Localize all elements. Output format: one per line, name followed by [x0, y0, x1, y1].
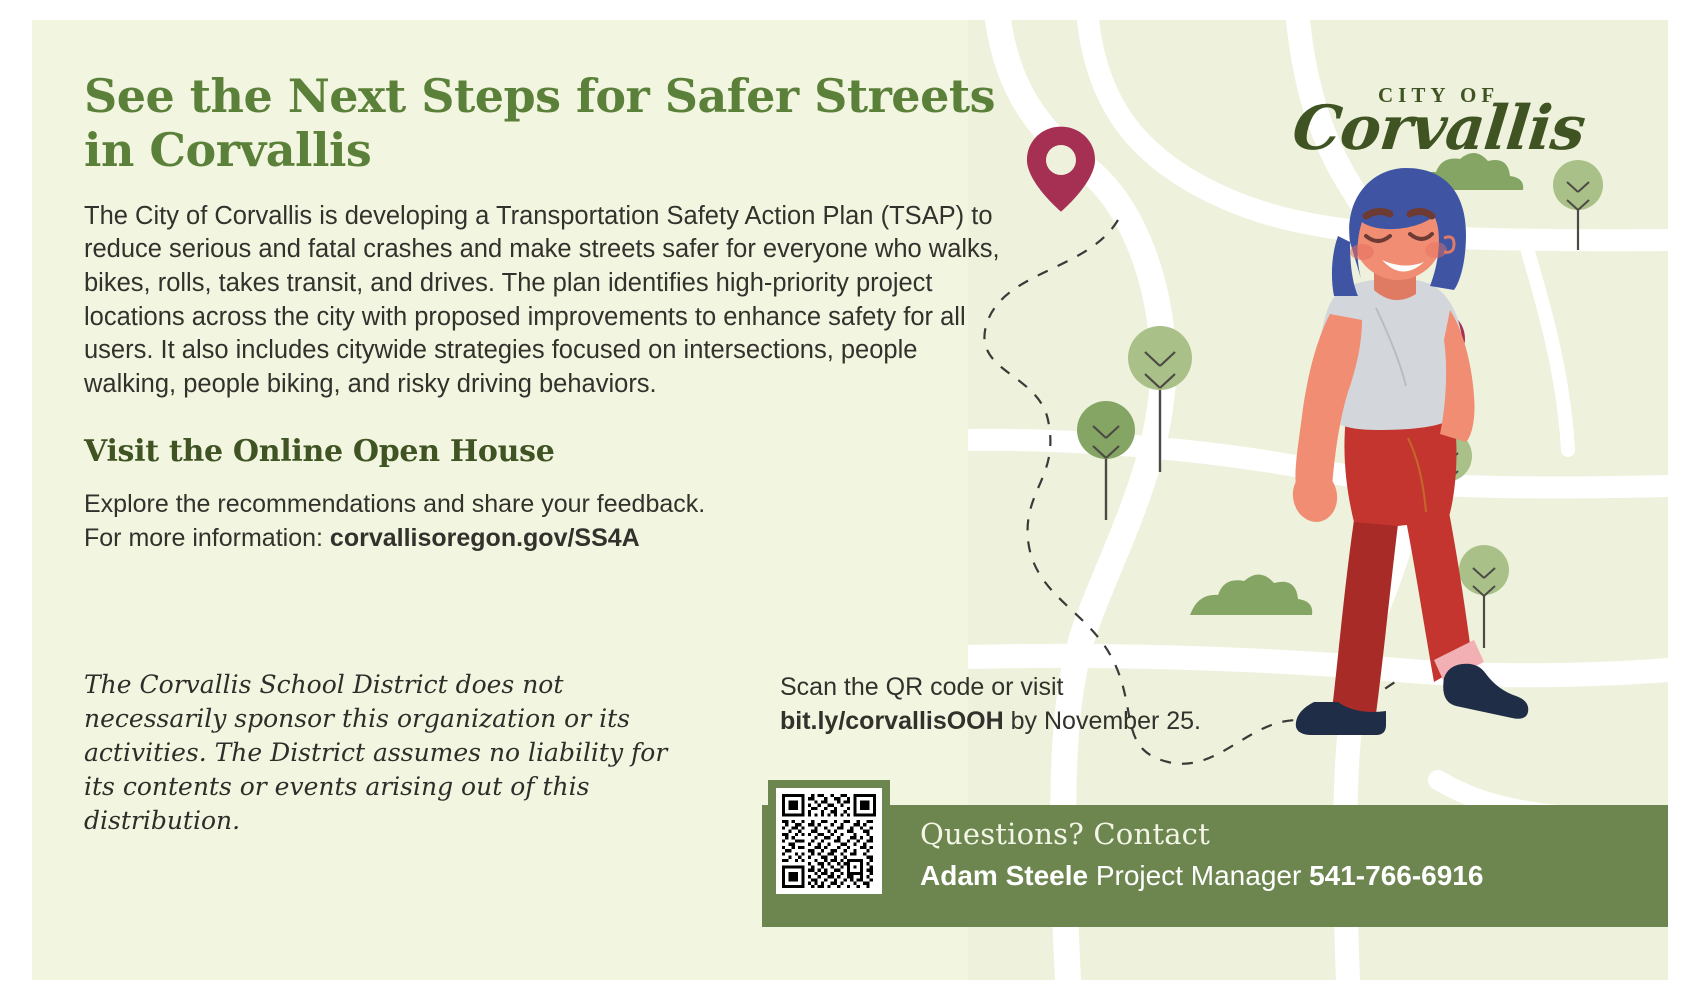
page-title: See the Next Steps for Safer Streets in … [84, 70, 1044, 178]
qr-code-block[interactable] [768, 780, 890, 902]
flyer-canvas: CITY OF Corvallis See the Next Steps for… [32, 20, 1668, 980]
bitly-link[interactable]: bit.ly/corvallisOOH [780, 707, 1004, 735]
school-district-disclaimer: The Corvallis School District does not n… [84, 668, 704, 838]
intro-paragraph: The City of Corvallis is developing a Tr… [84, 200, 1014, 402]
main-content: See the Next Steps for Safer Streets in … [84, 70, 1044, 556]
contact-role: Project Manager [1088, 860, 1309, 891]
contact-person-line: Adam Steele Project Manager 541-766-6916 [920, 860, 1660, 892]
qr-code-image[interactable] [776, 788, 882, 894]
scan-instructions: Scan the QR code or visit bit.ly/corvall… [780, 670, 1480, 738]
scan-line-1: Scan the QR code or visit [780, 673, 1063, 701]
contact-name: Adam Steele [920, 860, 1088, 891]
city-of-corvallis-logo: CITY OF Corvallis [1293, 75, 1523, 180]
open-house-subheading: Visit the Online Open House [84, 434, 1044, 469]
more-info-label: For more information: [84, 524, 323, 552]
scan-deadline: by November 25. [1004, 707, 1201, 735]
explore-line: Explore the recommendations and share yo… [84, 490, 705, 518]
project-url-link[interactable]: corvallisoregon.gov/SS4A [330, 524, 640, 552]
contact-details: Questions? Contact Adam Steele Project M… [920, 817, 1660, 892]
explore-text: Explore the recommendations and share yo… [84, 487, 1044, 556]
questions-label: Questions? Contact [920, 817, 1660, 851]
contact-phone[interactable]: 541-766-6916 [1309, 860, 1483, 891]
logo-corvallis-script: Corvallis [1289, 93, 1588, 164]
